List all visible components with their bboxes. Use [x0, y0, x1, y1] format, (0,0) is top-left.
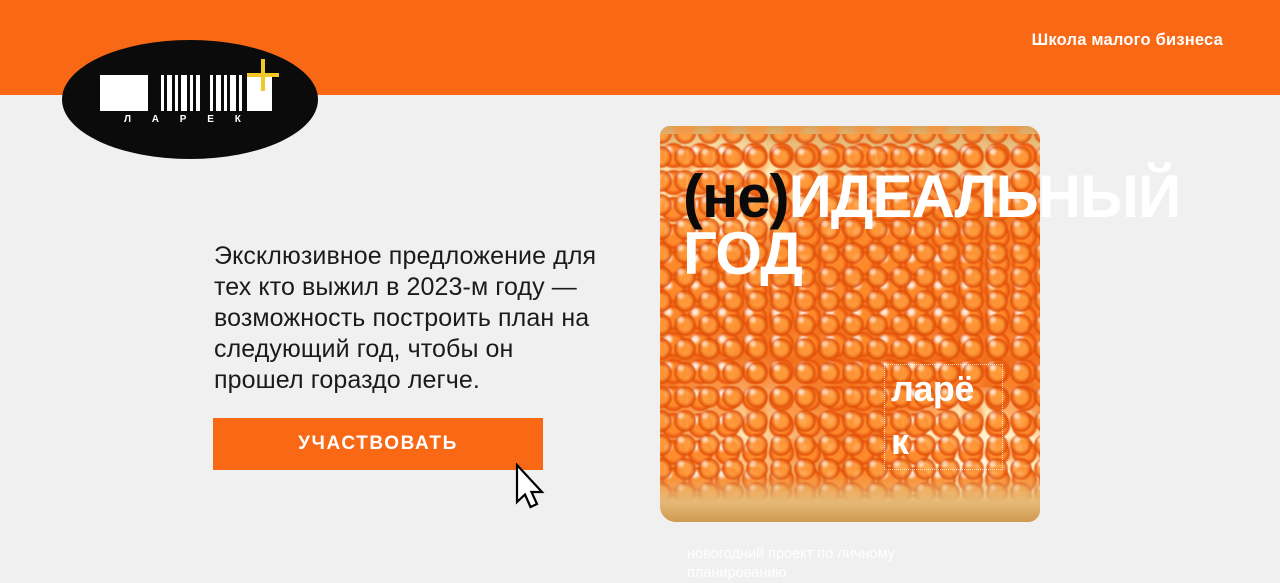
- lead-paragraph: Эксклюзивное предложение для тех кто выж…: [214, 241, 606, 396]
- promo-caption: новогодний проект по личному планировани…: [687, 545, 917, 583]
- brand-line-2: к: [891, 415, 1021, 468]
- bread-crust-bottom: [660, 474, 1040, 522]
- logo-wordmark: Л А Р Е К: [124, 114, 254, 125]
- participate-button[interactable]: УЧАСТВОВАТЬ: [213, 418, 543, 470]
- plus-icon: [247, 59, 279, 91]
- school-title: Школа малого бизнеса: [1032, 31, 1223, 50]
- brand-box: ларё к: [884, 364, 1003, 470]
- brand-box-text: ларё к: [891, 362, 1021, 468]
- promo-heading: (не)ИДЕАЛЬНЫЙ ГОД: [683, 168, 1043, 282]
- larek-logo[interactable]: Л А Р Е К: [62, 40, 318, 159]
- arrow-cursor-icon: [514, 463, 548, 513]
- brand-line-1: ларё: [891, 362, 1021, 415]
